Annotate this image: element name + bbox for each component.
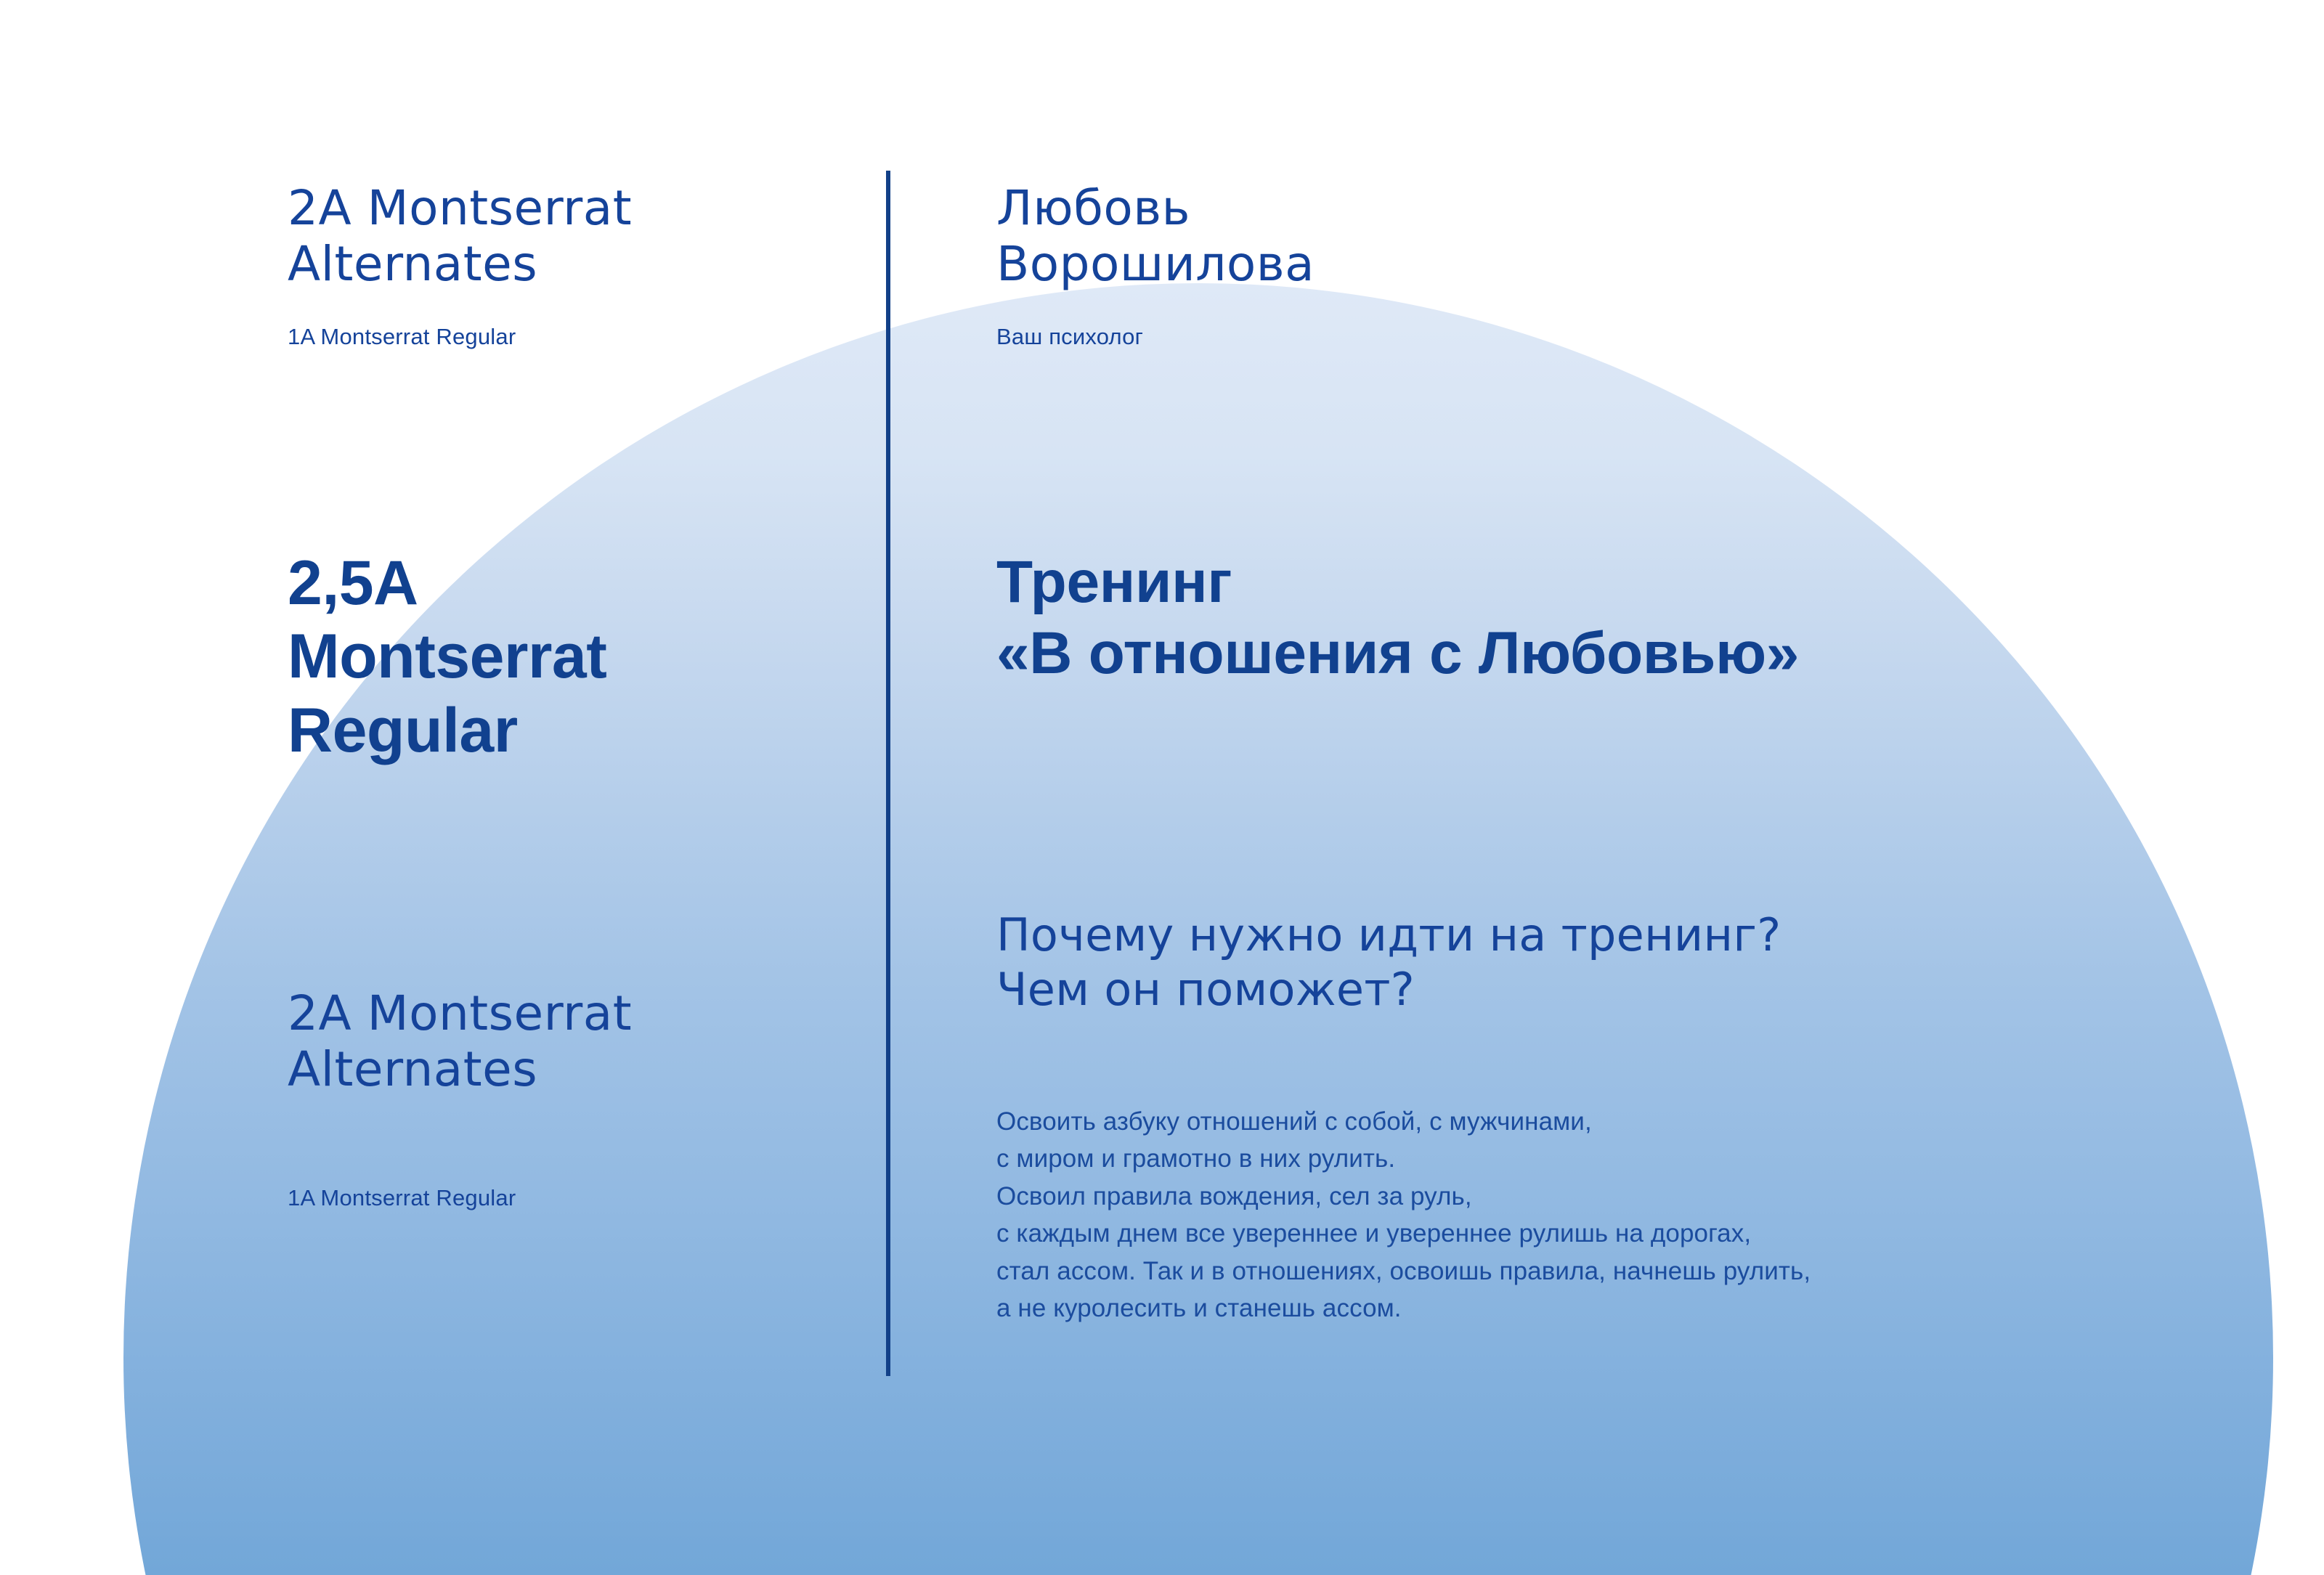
- left-column: 2A Montserrat Alternates 1A Montserrat R…: [288, 180, 840, 1213]
- slide-canvas: 2A Montserrat Alternates 1A Montserrat R…: [0, 0, 2324, 1575]
- question-line-2: Чем он поможет?: [996, 962, 2231, 1017]
- spacer-7: [996, 690, 2231, 908]
- training-title-block: Тренинг «В отношения с Любовью»: [996, 547, 2231, 690]
- right-column: Любовь Ворошилова Ваш психолог Тренинг «…: [996, 180, 2231, 1327]
- training-title-line-1: Тренинг: [996, 547, 2231, 618]
- body-line-5: стал ассом. Так и в отношениях, освоишь …: [996, 1253, 2231, 1290]
- spacer-2: [288, 352, 840, 547]
- spacer-3: [288, 768, 840, 985]
- training-title-line-2: «В отношения с Любовью»: [996, 618, 2231, 689]
- body-line-4: с каждым днем все увереннее и увереннее …: [996, 1215, 2231, 1252]
- author-name-line-1: Любовь: [996, 180, 2231, 236]
- body-line-1: Освоить азбуку отношений с собой, с мужч…: [996, 1103, 2231, 1140]
- spacer-8: [996, 1017, 2231, 1103]
- font-spec-1-heading-line-2: Alternates: [288, 236, 840, 292]
- font-spec-block-2: 2,5A Montserrat Regular: [288, 547, 840, 768]
- font-spec-2-line-1: 2,5A: [288, 547, 840, 620]
- font-spec-block-3: 2A Montserrat Alternates: [288, 985, 840, 1097]
- author-block: Любовь Ворошилова: [996, 180, 2231, 292]
- font-spec-3-caption: 1A Montserrat Regular: [288, 1184, 840, 1213]
- font-spec-block-1: 2A Montserrat Alternates: [288, 180, 840, 292]
- font-spec-3-heading-line-1: 2A Montserrat: [288, 985, 840, 1041]
- spacer-1: [288, 292, 840, 322]
- author-role: Ваш психолог: [996, 322, 2231, 351]
- font-spec-1-caption: 1A Montserrat Regular: [288, 322, 840, 351]
- column-divider: [886, 171, 890, 1376]
- body-paragraph: Освоить азбуку отношений с собой, с мужч…: [996, 1103, 2231, 1327]
- body-line-2: с миром и грамотно в них рулить.: [996, 1140, 2231, 1177]
- author-name-line-2: Ворошилова: [996, 236, 2231, 292]
- spacer-4: [288, 1098, 840, 1184]
- questions-block: Почему нужно идти на тренинг? Чем он пом…: [996, 908, 2231, 1017]
- spacer-5: [996, 292, 2231, 322]
- spacer-6: [996, 352, 2231, 547]
- font-spec-2-line-2: Montserrat: [288, 620, 840, 693]
- font-spec-2-line-3: Regular: [288, 694, 840, 768]
- body-line-6: а не куролесить и станешь ассом.: [996, 1290, 2231, 1327]
- body-line-3: Освоил правила вождения, сел за руль,: [996, 1178, 2231, 1215]
- font-spec-3-heading-line-2: Alternates: [288, 1041, 840, 1097]
- question-line-1: Почему нужно идти на тренинг?: [996, 908, 2231, 963]
- font-spec-1-heading-line-1: 2A Montserrat: [288, 180, 840, 236]
